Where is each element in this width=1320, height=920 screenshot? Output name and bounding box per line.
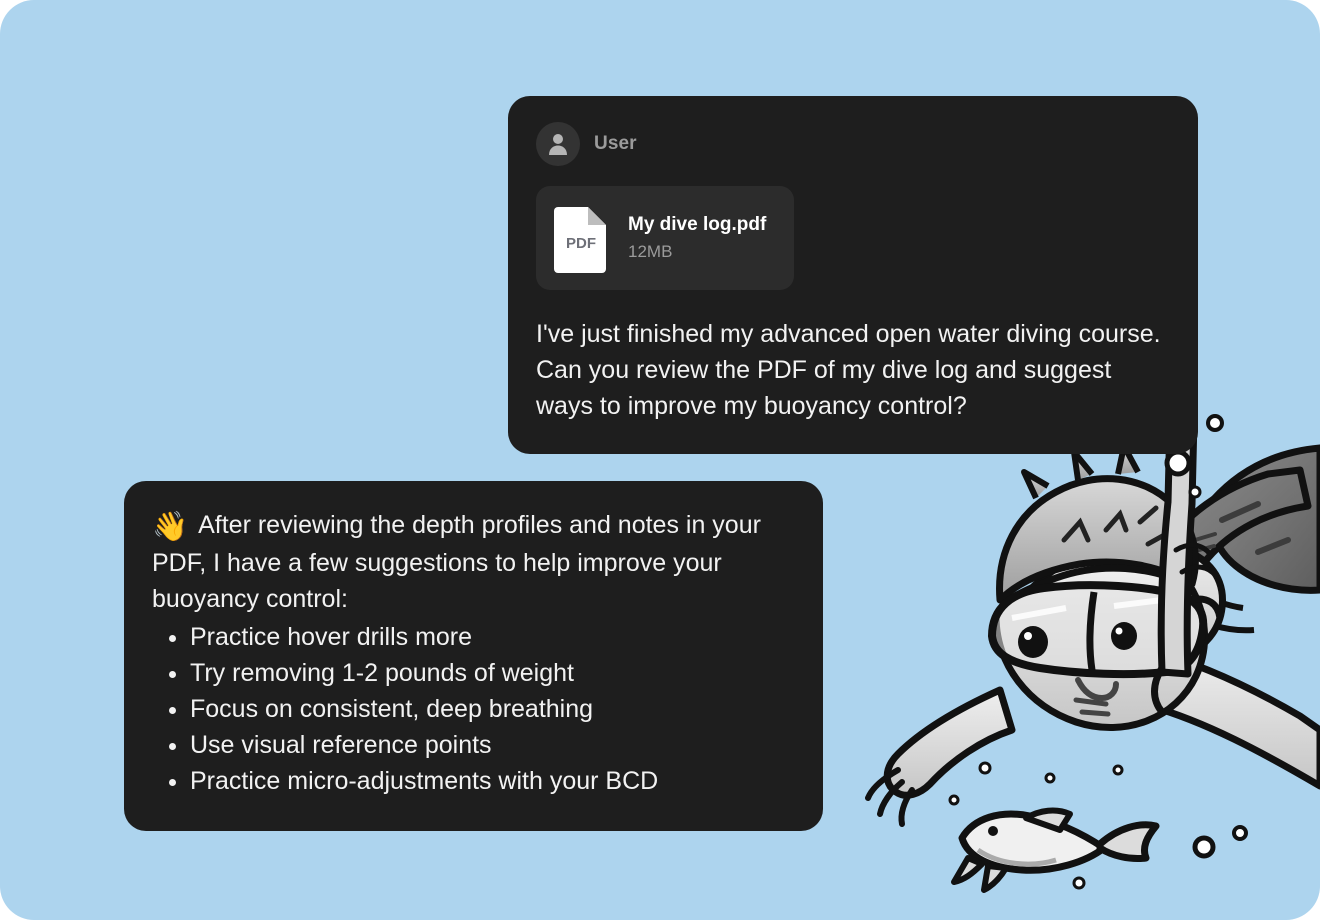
user-message-text: I've just finished my advanced open wate… — [536, 316, 1170, 424]
svg-text:PDF: PDF — [566, 235, 596, 252]
list-item: Practice micro-adjustments with your BCD — [152, 763, 793, 799]
user-message-header: User — [536, 122, 1170, 166]
list-item: Use visual reference points — [152, 727, 793, 763]
list-item: Focus on consistent, deep breathing — [152, 691, 793, 727]
pdf-file-icon: PDF — [554, 203, 610, 273]
list-item: Try removing 1-2 pounds of weight — [152, 655, 793, 691]
pdf-attachment-card[interactable]: PDF My dive log.pdf 12MB — [536, 186, 794, 290]
suggestions-list: Practice hover drills more Try removing … — [152, 619, 793, 799]
attachment-meta: My dive log.pdf 12MB — [628, 214, 766, 262]
assistant-intro-paragraph: 👋After reviewing the depth profiles and … — [152, 507, 793, 617]
user-sender-label: User — [594, 133, 637, 155]
assistant-message-bubble: 👋After reviewing the depth profiles and … — [124, 481, 823, 831]
app-canvas: User PDF My dive log.pdf 12MB I've just … — [0, 0, 1320, 920]
attachment-filesize: 12MB — [628, 242, 766, 262]
user-message-bubble: User PDF My dive log.pdf 12MB I've just … — [508, 96, 1198, 454]
attachment-filename: My dive log.pdf — [628, 214, 766, 236]
waving-hand-emoji: 👋 — [152, 511, 188, 543]
chat-thread: User PDF My dive log.pdf 12MB I've just … — [0, 0, 1320, 920]
assistant-intro-text: After reviewing the depth profiles and n… — [152, 511, 761, 613]
person-icon — [536, 122, 580, 166]
list-item: Practice hover drills more — [152, 619, 793, 655]
